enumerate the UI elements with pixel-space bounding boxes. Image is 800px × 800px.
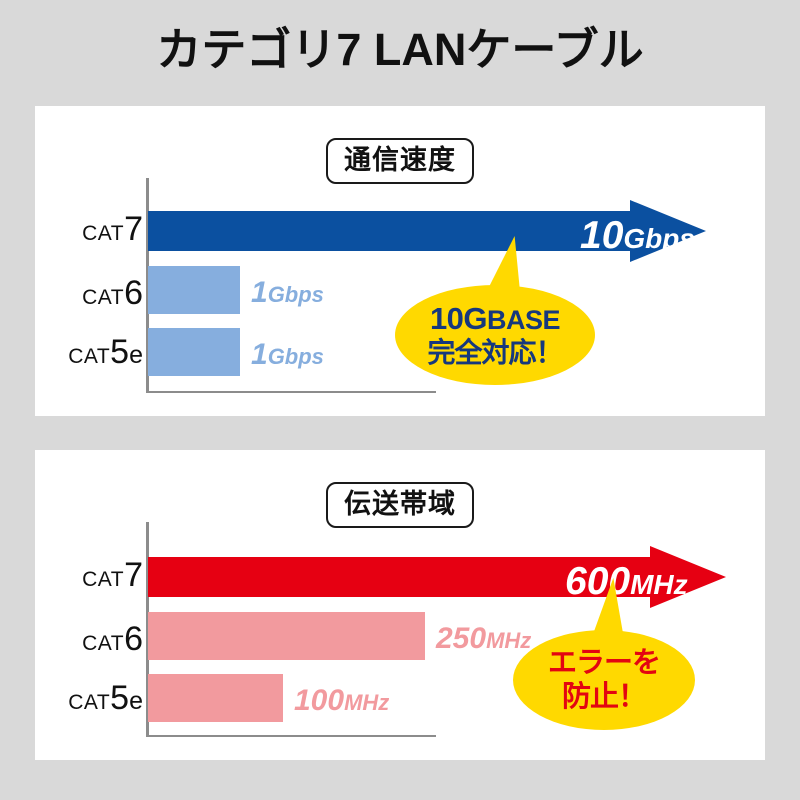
cat-number: 5 [110,679,129,717]
bubble-line-2: 完全対応！ [427,338,562,367]
bar-value-number: 100 [294,684,344,717]
chart-axis-baseline [146,735,436,737]
bar-value-unit: Gbps [268,282,324,307]
bubble-line-2: 防止！ [562,682,646,712]
page-title: カテゴリ7 LANケーブル [0,22,800,78]
bar-value-number: 1 [251,338,268,371]
cat-prefix: CAT [82,222,124,245]
bar-value-cat5e-speed: 1Gbps [251,340,324,370]
cat-prefix: CAT [68,691,110,714]
cat-number: 6 [124,620,143,658]
speech-bubble-error-prevention: エラーを 防止！ [513,630,695,730]
bar-value-unit: MHz [344,690,389,715]
category-label-cat6-speed: CAT6 [35,276,143,306]
cat-prefix: CAT [82,632,124,655]
bar-value-unit: Gbps [268,344,324,369]
bubble-text-10: 10 [430,301,463,336]
bubble-line-1: エラーを [548,648,660,678]
bar-value-cat6-speed: 1Gbps [251,278,324,308]
bubble-text-base: BASE [487,305,560,335]
bar-value-number: 250 [436,622,486,655]
bar-cat6-bandwidth [148,612,425,660]
category-label-cat5e-speed: CAT5e [35,335,143,365]
bar-value-cat7-speed: 10Gbps [580,216,695,255]
category-label-cat7-speed: CAT7 [35,212,143,242]
bar-value-unit: MHz [630,569,688,600]
bar-value-unit: Gbps [623,223,695,254]
cat-number: 7 [124,210,143,248]
category-label-cat6-bandwidth: CAT6 [35,622,143,652]
cat-suffix: e [129,341,143,369]
chart-axis-baseline [146,391,436,393]
cat-number: 7 [124,556,143,594]
bar-value-number: 1 [251,276,268,309]
bar-value-cat6-bandwidth: 250MHz [436,624,531,654]
cat-prefix: CAT [82,568,124,591]
speech-bubble-10gbase: 10GBASE 完全対応！ [395,285,595,385]
bubble-text-g: G [463,301,487,336]
bar-value-number: 10 [580,214,623,257]
category-label-cat5e-bandwidth: CAT5e [35,681,143,711]
bar-cat6-speed [148,266,240,314]
bar-cat5e-speed [148,328,240,376]
bar-value-cat5e-bandwidth: 100MHz [294,686,389,716]
cat-suffix: e [129,687,143,715]
chart-communication-speed: CAT7 CAT6 CAT5e 10Gbps 1Gbps [35,106,765,416]
bar-cat5e-bandwidth [148,674,283,722]
cat-prefix: CAT [68,345,110,368]
cat-number: 6 [124,274,143,312]
bar-value-unit: MHz [486,628,531,653]
cat-number: 5 [110,333,129,371]
category-label-cat7-bandwidth: CAT7 [35,558,143,588]
cat-prefix: CAT [82,286,124,309]
panel-communication-speed: 通信速度 CAT7 CAT6 CAT5e 10 [35,106,765,416]
bubble-line-1: 10GBASE [430,303,560,336]
